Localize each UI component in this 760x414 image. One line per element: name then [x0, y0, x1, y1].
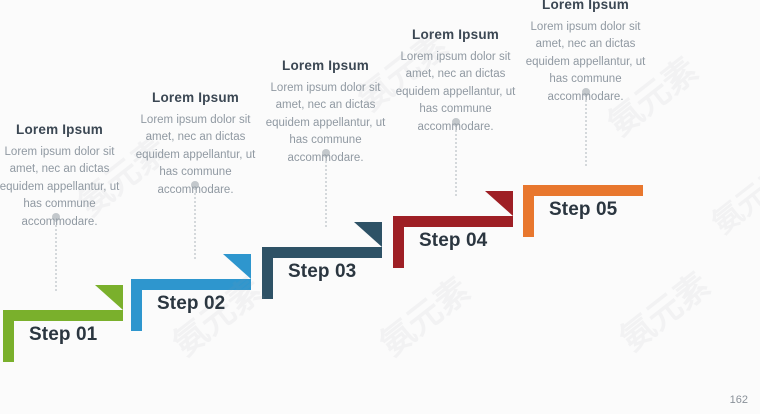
- step-flag-triangle: [485, 191, 513, 216]
- caption-step-04: Lorem Ipsum Lorem ipsum dolor sit amet, …: [388, 27, 523, 136]
- caption-title: Lorem Ipsum: [0, 122, 127, 137]
- step-bar-horizontal: [3, 310, 123, 321]
- caption-body: Lorem ipsum dolor sit amet, nec an dicta…: [0, 144, 127, 231]
- step-label: Step 02: [157, 293, 225, 315]
- step-shape-05[interactable]: Step 05: [523, 185, 643, 237]
- step-bar-horizontal: [131, 279, 251, 290]
- step-shape-04[interactable]: Step 04: [393, 216, 513, 268]
- caption-body: Lorem ipsum dolor sit amet, nec an dicta…: [128, 112, 263, 199]
- step-shape-01[interactable]: Step 01: [3, 310, 123, 362]
- step-bar-horizontal: [262, 247, 382, 258]
- watermark-text: 氨元素: [368, 264, 479, 365]
- caption-step-03: Lorem Ipsum Lorem ipsum dolor sit amet, …: [258, 58, 393, 167]
- caption-step-05: Lorem Ipsum Lorem ipsum dolor sit amet, …: [518, 0, 653, 106]
- step-flag-triangle: [223, 254, 251, 279]
- step-label: Step 01: [29, 324, 97, 346]
- step-label: Step 03: [288, 261, 356, 283]
- step-flag-triangle: [95, 285, 123, 310]
- caption-step-02: Lorem Ipsum Lorem ipsum dolor sit amet, …: [128, 90, 263, 199]
- watermark-text: 氨元素: [701, 152, 760, 242]
- caption-step-01: Lorem Ipsum Lorem ipsum dolor sit amet, …: [0, 122, 127, 231]
- step-flag-triangle: [354, 222, 382, 247]
- step-label: Step 05: [549, 199, 617, 221]
- caption-body: Lorem ipsum dolor sit amet, nec an dicta…: [258, 80, 393, 167]
- step-bar-vertical: [131, 279, 142, 331]
- step-bar-vertical: [3, 310, 14, 362]
- step-bar-vertical: [393, 216, 404, 268]
- step-bar-vertical: [523, 185, 534, 237]
- caption-title: Lorem Ipsum: [128, 90, 263, 105]
- page-number: 162: [730, 394, 748, 406]
- step-shape-03[interactable]: Step 03: [262, 247, 382, 299]
- step-bar-horizontal: [393, 216, 513, 227]
- caption-body: Lorem ipsum dolor sit amet, nec an dicta…: [388, 49, 523, 136]
- caption-title: Lorem Ipsum: [518, 0, 653, 12]
- caption-body: Lorem ipsum dolor sit amet, nec an dicta…: [518, 19, 653, 106]
- step-bar-vertical: [262, 247, 273, 299]
- step-shape-02[interactable]: Step 02: [131, 279, 251, 331]
- watermark-text: 氨元素: [608, 259, 719, 360]
- slide-canvas: 氨元素 氨元素 氨元素 氨元素 氨元素 氨元素 氨元素 Lorem Ipsum …: [0, 0, 760, 414]
- caption-title: Lorem Ipsum: [388, 27, 523, 42]
- caption-title: Lorem Ipsum: [258, 58, 393, 73]
- step-bar-horizontal: [523, 185, 643, 196]
- step-label: Step 04: [419, 230, 487, 252]
